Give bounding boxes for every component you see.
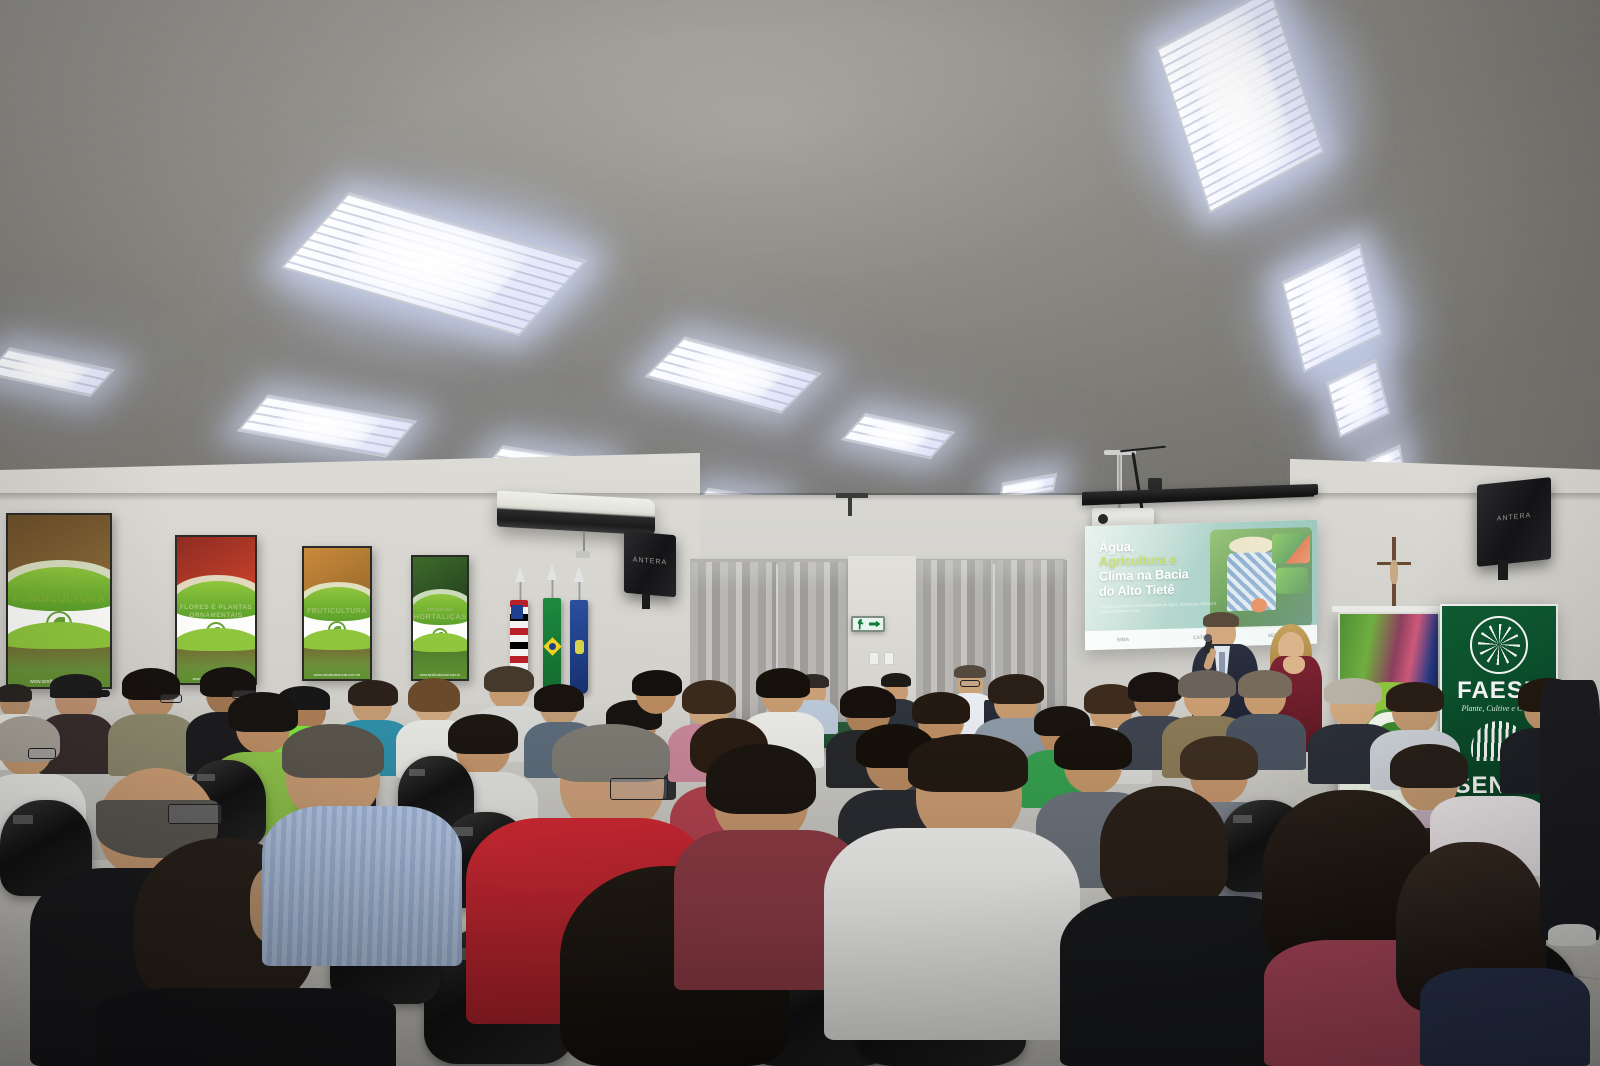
attendee-body xyxy=(108,714,196,776)
flag-finial xyxy=(515,566,525,582)
faesp-seal-icon xyxy=(1470,616,1528,674)
foreground-attendee-body xyxy=(824,828,1080,1040)
presenter-woman-neckline xyxy=(1283,656,1305,674)
wall-speaker-left: ANTERA xyxy=(624,531,676,598)
flag-municipal-crest xyxy=(575,640,584,654)
poster-title: HORTALIÇAS xyxy=(413,613,467,621)
poster-title: FRUTICULTURA xyxy=(304,608,370,615)
attendee-hair xyxy=(1054,726,1132,770)
wall-ceiling-joint xyxy=(0,493,1600,501)
flag-brazil-globe xyxy=(549,643,556,650)
attendee-hair xyxy=(988,674,1044,704)
ceiling-hook-stem xyxy=(848,498,852,516)
slide-logo-1: SIMA xyxy=(1117,637,1130,643)
speaker-brand-label: ANTERA xyxy=(1477,510,1551,525)
panelist-hair xyxy=(881,673,911,687)
attendee-hair xyxy=(408,678,460,712)
attendee-hair xyxy=(484,666,534,692)
banner-top-rail xyxy=(1332,606,1446,612)
emergency-exit-sign xyxy=(851,616,885,632)
glasses-icon xyxy=(28,748,56,759)
ac-drain-fitting xyxy=(576,551,590,558)
foreground-attendee-hair xyxy=(908,734,1028,792)
arrow-right-icon xyxy=(869,620,881,628)
glasses-icon xyxy=(610,778,668,800)
glasses-icon xyxy=(160,694,182,703)
ceiling-hook xyxy=(836,493,868,498)
attendee-hair xyxy=(228,692,298,732)
foreground-attendee-body xyxy=(1420,968,1590,1066)
foreground-attendee-hair xyxy=(552,724,670,782)
speaker-mount-bracket xyxy=(642,593,650,609)
projector-lens-icon xyxy=(1098,514,1108,524)
glasses-icon xyxy=(960,680,980,687)
slide-logo-2: CATI xyxy=(1193,635,1204,641)
cable-junction-box xyxy=(1148,478,1162,490)
standing-attendee-shoe xyxy=(1548,924,1596,946)
auditorium-photo: FUNGICULTURA SindicatoRural www.sindicat… xyxy=(0,0,1600,1066)
attendee-hair xyxy=(682,680,736,714)
attendee-hair xyxy=(632,670,682,696)
attendee-hair xyxy=(1386,682,1444,712)
foreground-attendee-body xyxy=(96,988,396,1066)
flag-sao-paulo-canton xyxy=(511,605,523,619)
poster-url: www.sindicatorural.com.br xyxy=(413,673,467,677)
slide-title: Água, Agricultura e Clima na Bacia do Al… xyxy=(1099,537,1229,599)
panelist-hair xyxy=(954,665,986,678)
attendee-hair xyxy=(912,692,970,724)
standing-attendee xyxy=(1540,680,1600,940)
poster-url: www.sindicatorural.com.br xyxy=(304,672,370,677)
attendee-hair xyxy=(448,714,518,754)
attendee-hair xyxy=(1390,744,1468,788)
foreground-attendee-body xyxy=(262,806,462,966)
wall-speaker-right: ANTERA xyxy=(1477,477,1551,567)
poster-hortalicas: PROGRAMA HORTALIÇAS SindicatoRural www.s… xyxy=(411,555,469,681)
attendee-hair xyxy=(1128,672,1182,702)
poster-flores-plantas: FLORES E PLANTAS ORNAMENTAIS SindicatoRu… xyxy=(175,535,257,685)
poster-title: FUNGICULTURA xyxy=(8,594,110,606)
presenter-hair xyxy=(1203,612,1239,627)
foreground-attendee-hair xyxy=(282,724,384,778)
attendee-hair xyxy=(840,686,896,718)
poster-fruticultura: FRUTICULTURA SindicatoRural www.sindicat… xyxy=(302,546,372,681)
speaker-mount-bracket xyxy=(1498,560,1508,580)
foreground-attendee-hair xyxy=(1100,786,1228,908)
attendee-hair xyxy=(0,684,32,702)
speaker-brand-label: ANTERA xyxy=(624,556,676,568)
ac-drain-pipe xyxy=(583,531,585,553)
attendee-hair xyxy=(1178,670,1236,698)
foreground-attendee-hair xyxy=(706,744,816,814)
attendee-hair xyxy=(348,680,398,706)
attendee-hair xyxy=(534,684,584,712)
attendee-hair xyxy=(1238,670,1292,698)
attendee-hair xyxy=(1180,736,1258,780)
poster-title: FLORES E PLANTAS ORNAMENTAIS xyxy=(177,604,255,620)
attendee-hair xyxy=(756,668,810,698)
microphone-head-icon xyxy=(1204,634,1212,642)
flag-finial xyxy=(547,564,557,580)
cap-brim-icon xyxy=(88,690,110,697)
light-switch[interactable] xyxy=(869,652,879,665)
glasses-icon xyxy=(168,804,222,824)
flag-finial xyxy=(574,566,584,582)
attendee-hair xyxy=(1324,678,1382,704)
light-switch[interactable] xyxy=(884,652,894,665)
running-person-icon xyxy=(856,619,867,630)
crucifix-figure xyxy=(1390,560,1398,584)
poster-fungicultura: FUNGICULTURA SindicatoRural www.sindicat… xyxy=(6,513,112,689)
